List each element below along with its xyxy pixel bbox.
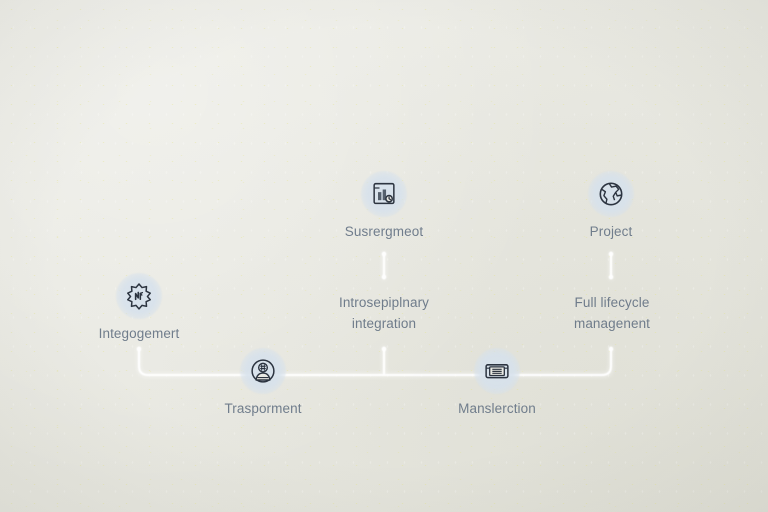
person-avatar-icon bbox=[248, 356, 278, 386]
node-integration[interactable]: Integogemert bbox=[59, 273, 219, 342]
connector-cap-management-top bbox=[382, 252, 387, 257]
node-transport-label: Trasporment bbox=[183, 401, 343, 417]
node-project-icon-wrap[interactable] bbox=[588, 171, 634, 217]
vignette-overlay bbox=[0, 0, 768, 512]
node-management-label: Susrergmeot bbox=[304, 224, 464, 240]
node-construction[interactable]: Manslerction bbox=[417, 348, 577, 417]
node-management-icon-wrap[interactable] bbox=[361, 171, 407, 217]
node-transport-icon-wrap[interactable] bbox=[240, 348, 286, 394]
node-management[interactable]: Susrergmeot bbox=[304, 171, 464, 240]
connector-cap-left bbox=[137, 347, 142, 352]
caption-full-lifecycle-management: Full lifecycle managenent bbox=[517, 292, 707, 334]
node-project-label: Project bbox=[531, 224, 691, 240]
node-project[interactable]: Project bbox=[531, 171, 691, 240]
node-construction-icon-wrap[interactable] bbox=[474, 348, 520, 394]
diagram-canvas: Integogemert Susrergmeot bbox=[0, 0, 768, 512]
connector-cap-mid bbox=[382, 347, 387, 352]
gear-chart-icon bbox=[124, 281, 154, 311]
caption-interdisciplinary-integration: Introsepiplnary integration bbox=[289, 292, 479, 334]
connector-cap-project-top bbox=[609, 252, 614, 257]
node-transport[interactable]: Trasporment bbox=[183, 348, 343, 417]
document-card-icon bbox=[482, 356, 512, 386]
connector-cap-management-bot bbox=[382, 275, 387, 280]
connector-cap-right bbox=[609, 347, 614, 352]
connector-cap-project-bot bbox=[609, 275, 614, 280]
globe-icon bbox=[596, 179, 626, 209]
connector-lines bbox=[0, 0, 768, 512]
node-construction-label: Manslerction bbox=[417, 401, 577, 417]
node-integration-label: Integogemert bbox=[59, 326, 219, 342]
background-noise-texture bbox=[0, 0, 768, 512]
node-integration-icon-wrap[interactable] bbox=[116, 273, 162, 319]
bar-chart-document-icon bbox=[369, 179, 399, 209]
